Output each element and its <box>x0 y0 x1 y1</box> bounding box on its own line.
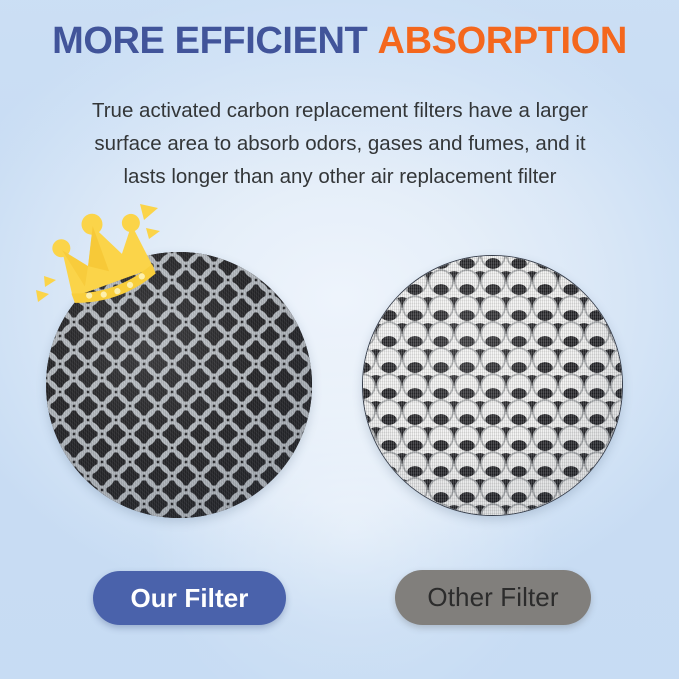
description-line-2: surface area to absorb odors, gases and … <box>60 127 620 160</box>
sparkle-icon-bottom-left <box>36 290 49 302</box>
other-filter-weave-overlay <box>362 255 623 516</box>
crown-badge <box>30 198 180 308</box>
our-filter-label-button[interactable]: Our Filter <box>93 571 286 625</box>
other-filter-image <box>362 255 623 516</box>
other-filter-grain-overlay <box>362 255 623 516</box>
description-line-3: lasts longer than any other air replacem… <box>60 160 620 193</box>
headline-primary-text: MORE EFFICIENT <box>52 20 367 62</box>
other-filter-sparse-carbon-texture <box>362 255 623 516</box>
crown-ball-right-outer <box>119 211 142 234</box>
headline-accent-text: ABSORPTION <box>378 20 627 62</box>
crown-icon <box>30 198 180 308</box>
product-comparison-poster: MORE EFFICIENT ABSORPTION True activated… <box>0 0 679 679</box>
sparkle-icon-top-right <box>140 204 158 220</box>
sparkle-icon-right <box>146 228 160 239</box>
headline-space <box>367 20 377 62</box>
sparkle-icon-left <box>44 276 56 287</box>
page-title: MORE EFFICIENT ABSORPTION <box>0 18 679 64</box>
other-filter-label-button[interactable]: Other Filter <box>395 570 591 625</box>
description-paragraph: True activated carbon replacement filter… <box>60 94 620 193</box>
description-line-1: True activated carbon replacement filter… <box>60 94 620 127</box>
